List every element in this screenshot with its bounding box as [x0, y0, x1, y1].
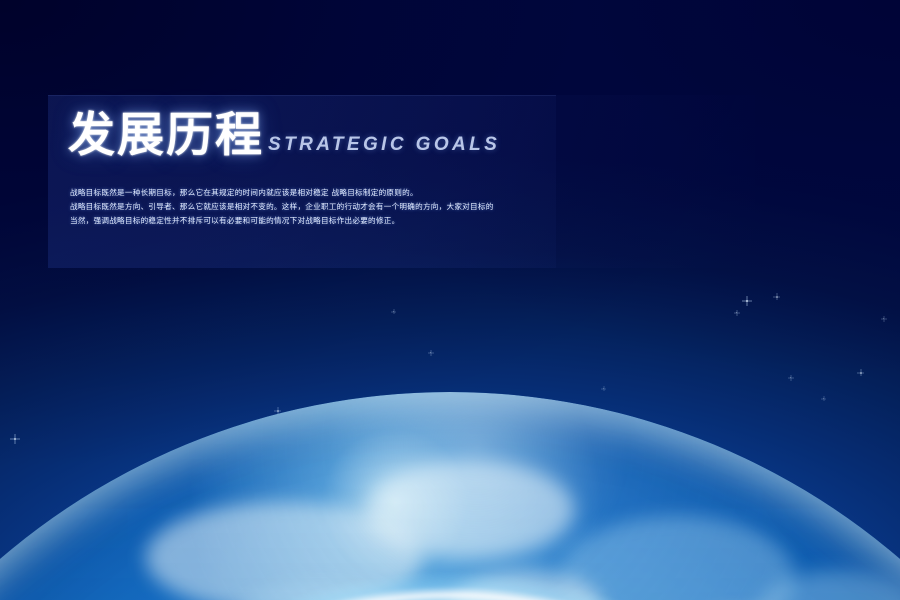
- page-title: 发展历程: [68, 112, 264, 159]
- space-vignette-right: [0, 0, 900, 600]
- page-subtitle: STRATEGIC GOALS: [268, 134, 500, 159]
- banner-canvas: 发展历程 STRATEGIC GOALS 战略目标既然是一种长期目标，那么它在其…: [0, 0, 900, 600]
- description-line: 战略目标既然是方向、引导者、那么它就应该是相对不变的。这样，企业职工的行动才会有…: [70, 200, 760, 214]
- description-line: 当然，强调战略目标的稳定性并不排斥可以有必要和可能的情况下对战略目标作出必要的修…: [70, 214, 760, 228]
- description-paragraph: 战略目标既然是一种长期目标，那么它在其规定的时间内就应该是相对稳定 战略目标制定…: [70, 186, 760, 228]
- headline: 发展历程 STRATEGIC GOALS: [68, 112, 500, 159]
- description-line: 战略目标既然是一种长期目标，那么它在其规定的时间内就应该是相对稳定 战略目标制定…: [70, 186, 760, 200]
